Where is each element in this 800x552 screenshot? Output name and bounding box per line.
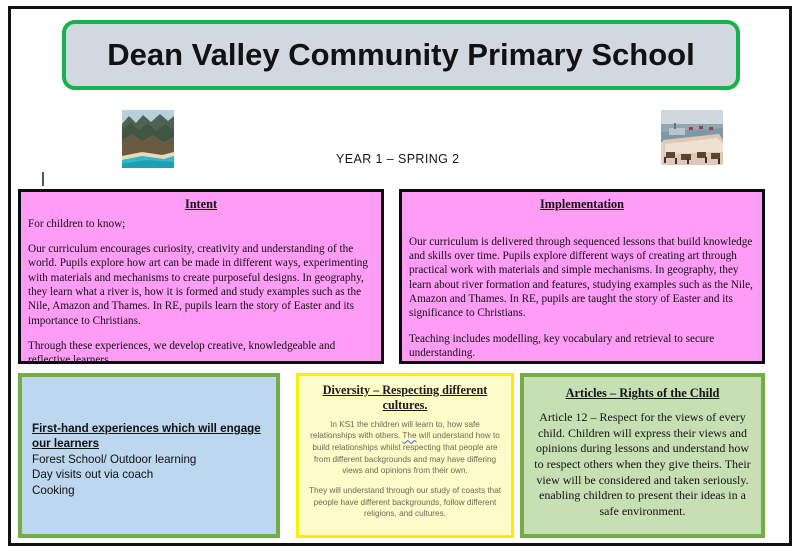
intent-box: Intent For children to know; Our curricu… <box>18 189 384 364</box>
coastal-cliffs-photo <box>122 110 174 168</box>
curriculum-overview-page: Dean Valley Community Primary School <box>0 0 800 552</box>
victorian-seaside-pier-photo <box>661 110 723 165</box>
list-item: Day visits out via coach <box>32 467 266 482</box>
intent-heading: Intent <box>28 197 374 213</box>
page-title: Dean Valley Community Primary School <box>107 37 694 73</box>
year-term-label: YEAR 1 – SPRING 2 <box>336 152 460 166</box>
blue-box-spacer <box>32 385 266 421</box>
school-title-banner: Dean Valley Community Primary School <box>62 20 740 90</box>
misspelled-word: The <box>402 431 416 440</box>
articles-rights-box: Articles – Rights of the Child Article 1… <box>520 373 765 538</box>
diversity-paragraph-2: They will understand through our study o… <box>307 485 503 520</box>
text-cursor <box>42 172 44 186</box>
diversity-box: Diversity – Respecting different culture… <box>296 373 514 538</box>
list-item: Forest School/ Outdoor learning <box>32 452 266 467</box>
implementation-closing: Teaching includes modelling, key vocabul… <box>409 332 755 361</box>
intent-body: Our curriculum encourages curiosity, cre… <box>28 242 374 328</box>
implementation-heading: Implementation <box>409 197 755 213</box>
list-item: Cooking <box>32 483 266 498</box>
first-hand-experiences-box: First-hand experiences which will engage… <box>18 373 280 538</box>
implementation-box: Implementation Our curriculum is deliver… <box>399 189 765 364</box>
experiences-list: Forest School/ Outdoor learning Day visi… <box>32 452 266 498</box>
experiences-heading: First-hand experiences which will engage… <box>32 421 266 452</box>
implementation-body: Our curriculum is delivered through sequ… <box>409 235 755 321</box>
diversity-paragraph-1: In KS1 the children will learn to, how s… <box>307 419 503 477</box>
articles-heading: Articles – Rights of the Child <box>533 385 752 401</box>
diversity-heading: Diversity – Respecting different culture… <box>307 383 503 413</box>
articles-body: Article 12 – Respect for the views of ev… <box>533 410 752 519</box>
intent-closing: Through these experiences, we develop cr… <box>28 339 374 368</box>
intent-lead: For children to know; <box>28 217 374 231</box>
